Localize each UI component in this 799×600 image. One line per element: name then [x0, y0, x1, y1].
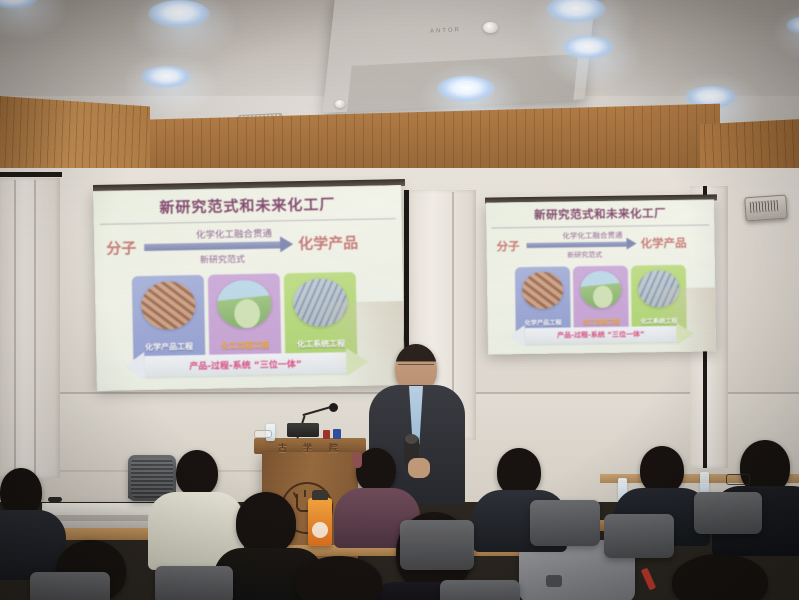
speaker-hand — [408, 458, 430, 478]
remote-control — [48, 497, 62, 502]
ceiling-downlight — [437, 76, 495, 102]
laptop-on-podium — [287, 423, 319, 437]
arrow-bottom-label: 新研究范式 — [162, 251, 282, 266]
curtain-rail — [0, 172, 62, 177]
wall-curtain-left — [0, 178, 60, 478]
blue-object-on-podium — [333, 429, 341, 439]
auditorium-chair — [440, 580, 520, 600]
left-projection-screen: 新研究范式和未来化工厂 化学化工融合贯通 分子 化学产品 新研究范式 化学产品工… — [93, 185, 405, 391]
flow-left-label: 分子 — [496, 238, 519, 254]
lecture-hall-photo: ANTOR 新研究范式和未来 — [0, 0, 799, 600]
arrow-bottom-label: 新研究范式 — [539, 250, 631, 261]
front-table — [42, 503, 162, 515]
flow-left-label: 分子 — [106, 237, 136, 259]
auditorium-chair — [604, 514, 674, 558]
right-projection-screen: 新研究范式和未来化工厂 化学化工融合贯通 分子 化学产品 新研究范式 化学产品工… — [486, 199, 716, 354]
red-object-on-podium — [323, 430, 330, 439]
band-arrow-left-icon — [509, 325, 525, 347]
ceiling-downlight — [141, 66, 191, 88]
flow-right-label: 化学产品 — [640, 235, 686, 252]
audience-head — [296, 556, 382, 600]
audience-head — [236, 492, 296, 554]
panel-label-2: 化工过程工程 — [574, 317, 629, 327]
audience-head — [497, 448, 541, 496]
audience-head — [640, 446, 684, 494]
water-bottle — [700, 472, 709, 494]
slide-content-left: 新研究范式和未来化工厂 化学化工融合贯通 分子 化学产品 新研究范式 化学产品工… — [93, 185, 405, 391]
thermos-cap — [312, 490, 328, 500]
audience-head — [356, 448, 396, 492]
podium-char-1: 古 — [278, 441, 287, 454]
podium-char-2: 学 — [303, 441, 312, 454]
ceiling-downlight — [148, 0, 210, 28]
slide-photo-fade — [638, 288, 716, 353]
podium-char-3: 院 — [329, 441, 338, 454]
ceiling-downlight — [562, 36, 614, 59]
auditorium-chair — [400, 520, 474, 570]
slide-title: 新研究范式和未来化工厂 — [486, 204, 714, 223]
auditorium-chair — [694, 492, 762, 534]
band-arrow-left-icon — [124, 352, 145, 380]
red-pen — [641, 568, 656, 591]
ceiling-sensor-icon — [335, 100, 345, 108]
emblem-ray-icon — [304, 490, 306, 497]
auditorium-chair — [30, 572, 110, 600]
flow-arrow — [527, 242, 629, 248]
backpack-buckle-icon — [546, 575, 562, 587]
panel-label-2: 化工过程工程 — [209, 339, 281, 351]
flow-right-label: 化学产品 — [298, 232, 358, 254]
speaker-grill-icon — [750, 200, 779, 213]
flow-arrow-head-icon — [280, 236, 293, 252]
flow-arrow-head-icon — [626, 238, 636, 250]
thermos-sticker-icon — [312, 522, 328, 538]
podium-microphone-head — [329, 403, 338, 412]
slide-title: 新研究范式和未来化工厂 — [93, 192, 401, 219]
audience-head — [176, 450, 218, 496]
hair-tie-icon — [352, 452, 362, 468]
slide-photo-fade — [299, 301, 405, 387]
slide-content-right: 新研究范式和未来化工厂 化学化工融合贯通 分子 化学产品 新研究范式 化学产品工… — [486, 199, 716, 354]
audience-head — [672, 554, 768, 600]
audience-head — [0, 468, 42, 516]
microphone-head-icon — [405, 434, 418, 444]
auditorium-chair — [530, 500, 600, 546]
ceiling-dome-icon — [483, 22, 498, 33]
eyeglasses-icon — [726, 474, 750, 485]
flow-arrow — [144, 241, 282, 251]
eyeglasses-on-podium — [254, 430, 272, 438]
speaker-glasses-icon — [398, 364, 434, 372]
auditorium-chair — [155, 566, 233, 600]
